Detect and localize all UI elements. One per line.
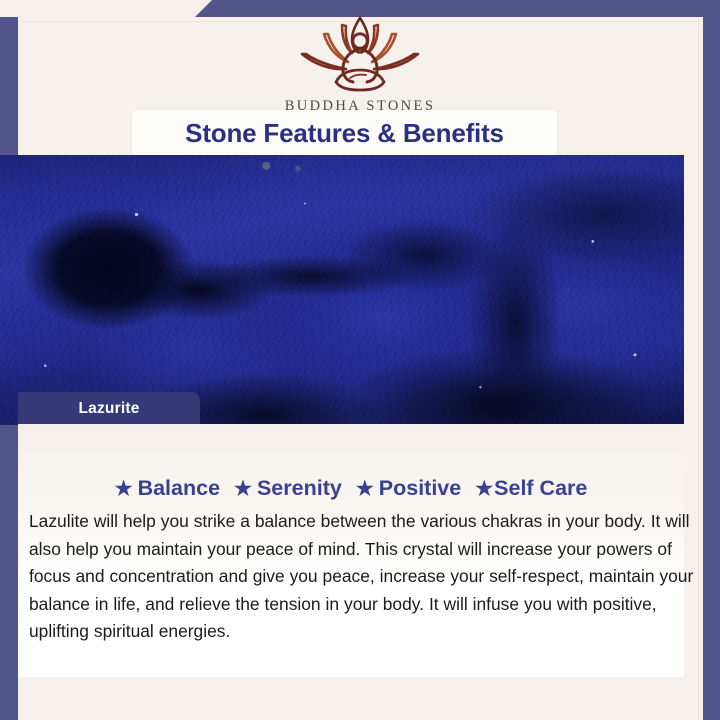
stone-description: Lazulite will help you strike a balance … xyxy=(29,508,695,646)
stone-name-label: Lazurite xyxy=(78,400,139,418)
section-title-banner: Stone Features & Benefits xyxy=(132,110,557,156)
content-panel: ★ Balance ★ Serenity ★ Positive ★ Self C… xyxy=(18,424,684,677)
star-icon: ★ xyxy=(356,479,374,499)
page-title: Stone Features & Benefits xyxy=(185,118,504,149)
stone-vignette xyxy=(0,155,684,425)
lotus-meditation-icon xyxy=(284,12,436,94)
stone-name-chip: Lazurite xyxy=(18,392,200,425)
brand-logo: BUDDHA STONES xyxy=(0,12,720,115)
hero-image-region: Lazurite xyxy=(0,155,684,425)
benefit-item-positive: ★ Positive xyxy=(356,476,461,501)
inner-hairline-vertical xyxy=(698,18,699,720)
benefit-item-self-care: ★ Self Care xyxy=(475,476,587,501)
benefit-item-balance: ★ Balance xyxy=(115,476,220,501)
benefit-item-serenity: ★ Serenity xyxy=(234,476,342,501)
benefit-label: Self Care xyxy=(494,476,587,501)
star-icon: ★ xyxy=(234,479,252,499)
benefit-label: Positive xyxy=(379,476,461,501)
star-icon: ★ xyxy=(475,479,493,499)
benefit-label: Balance xyxy=(138,476,220,501)
benefit-label: Serenity xyxy=(257,476,342,501)
star-icon: ★ xyxy=(115,479,133,499)
benefits-row: ★ Balance ★ Serenity ★ Positive ★ Self C… xyxy=(18,476,684,501)
product-info-card: BUDDHA STONES Stone Features & Benefits … xyxy=(0,0,720,720)
